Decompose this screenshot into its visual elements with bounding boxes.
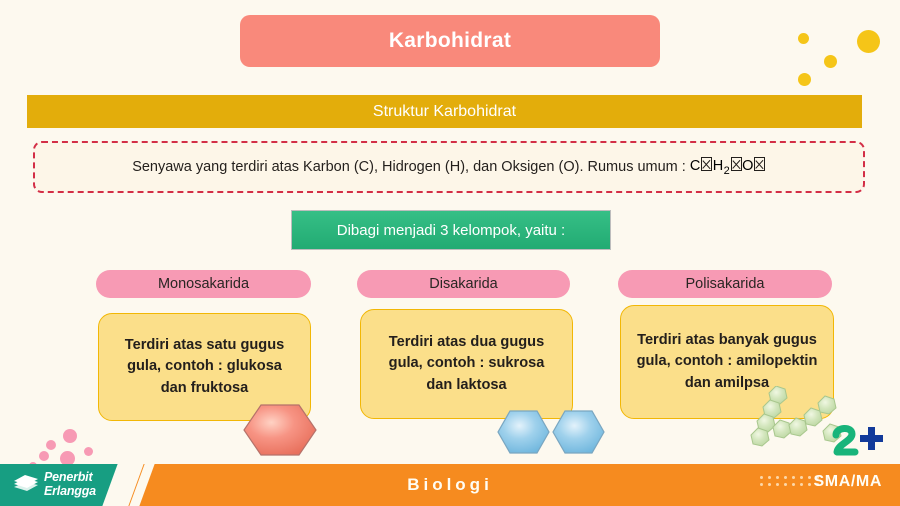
monosaccharide-hexagon-icon — [241, 402, 319, 460]
category-pill-monosakarida: Monosakarida — [96, 270, 311, 298]
book-logo-icon — [12, 473, 40, 493]
category-pill-label: Monosakarida — [158, 276, 249, 292]
definition-text: Senyawa yang terdiri atas Karbon (C), Hi… — [132, 159, 686, 175]
description-card-text: Terdiri atas banyak gugus gula, contoh :… — [621, 330, 833, 393]
missing-glyph-icon — [701, 157, 712, 171]
footer-bar: Biologi SMA/MA Penerbit Erlangga — [0, 460, 900, 506]
category-pill-disakarida: Disakarida — [357, 270, 570, 298]
page-title: Karbohidrat — [389, 29, 511, 53]
section-header-bar: Struktur Karbohidrat — [27, 95, 862, 128]
missing-glyph-icon — [731, 157, 742, 171]
publisher-name-line1: Penerbit — [44, 471, 96, 485]
decor-dot-pink — [46, 440, 56, 450]
brand-mark-2plus — [832, 424, 890, 458]
decor-dot-yellow — [798, 33, 809, 44]
publisher-name: Penerbit Erlangga — [44, 471, 96, 498]
disaccharide-hexagon-pair-icon — [495, 408, 607, 458]
description-card-text: Terdiri atas dua gugus gula, contoh : su… — [361, 332, 572, 395]
slide-canvas: Karbohidrat Struktur Karbohidrat Senyawa… — [0, 0, 900, 506]
missing-glyph-icon — [754, 157, 765, 171]
group-divider-label: Dibagi menjadi 3 kelompok, yaitu : — [337, 222, 565, 239]
publisher-name-line2: Erlangga — [44, 485, 96, 499]
decor-dot-yellow — [798, 73, 811, 86]
decor-dot-pink — [63, 429, 77, 443]
definition-box: Senyawa yang terdiri atas Karbon (C), Hi… — [33, 141, 865, 193]
slide-title-banner: Karbohidrat — [240, 15, 660, 67]
section-header-label: Struktur Karbohidrat — [373, 103, 516, 121]
description-card-disakarida: Terdiri atas dua gugus gula, contoh : su… — [360, 309, 573, 419]
decor-dot-pink — [84, 447, 93, 456]
category-pill-polisakarida: Polisakarida — [618, 270, 832, 298]
decor-dot-yellow — [824, 55, 837, 68]
chemical-formula: CH2O — [690, 157, 766, 177]
description-card-text: Terdiri atas satu gugus gula, contoh : g… — [99, 335, 310, 398]
decor-dot-yellow — [857, 30, 880, 53]
footer-education-level: SMA/MA — [814, 473, 882, 491]
category-pill-label: Disakarida — [429, 276, 498, 292]
group-divider-box: Dibagi menjadi 3 kelompok, yaitu : — [291, 210, 611, 250]
category-pill-label: Polisakarida — [686, 276, 765, 292]
